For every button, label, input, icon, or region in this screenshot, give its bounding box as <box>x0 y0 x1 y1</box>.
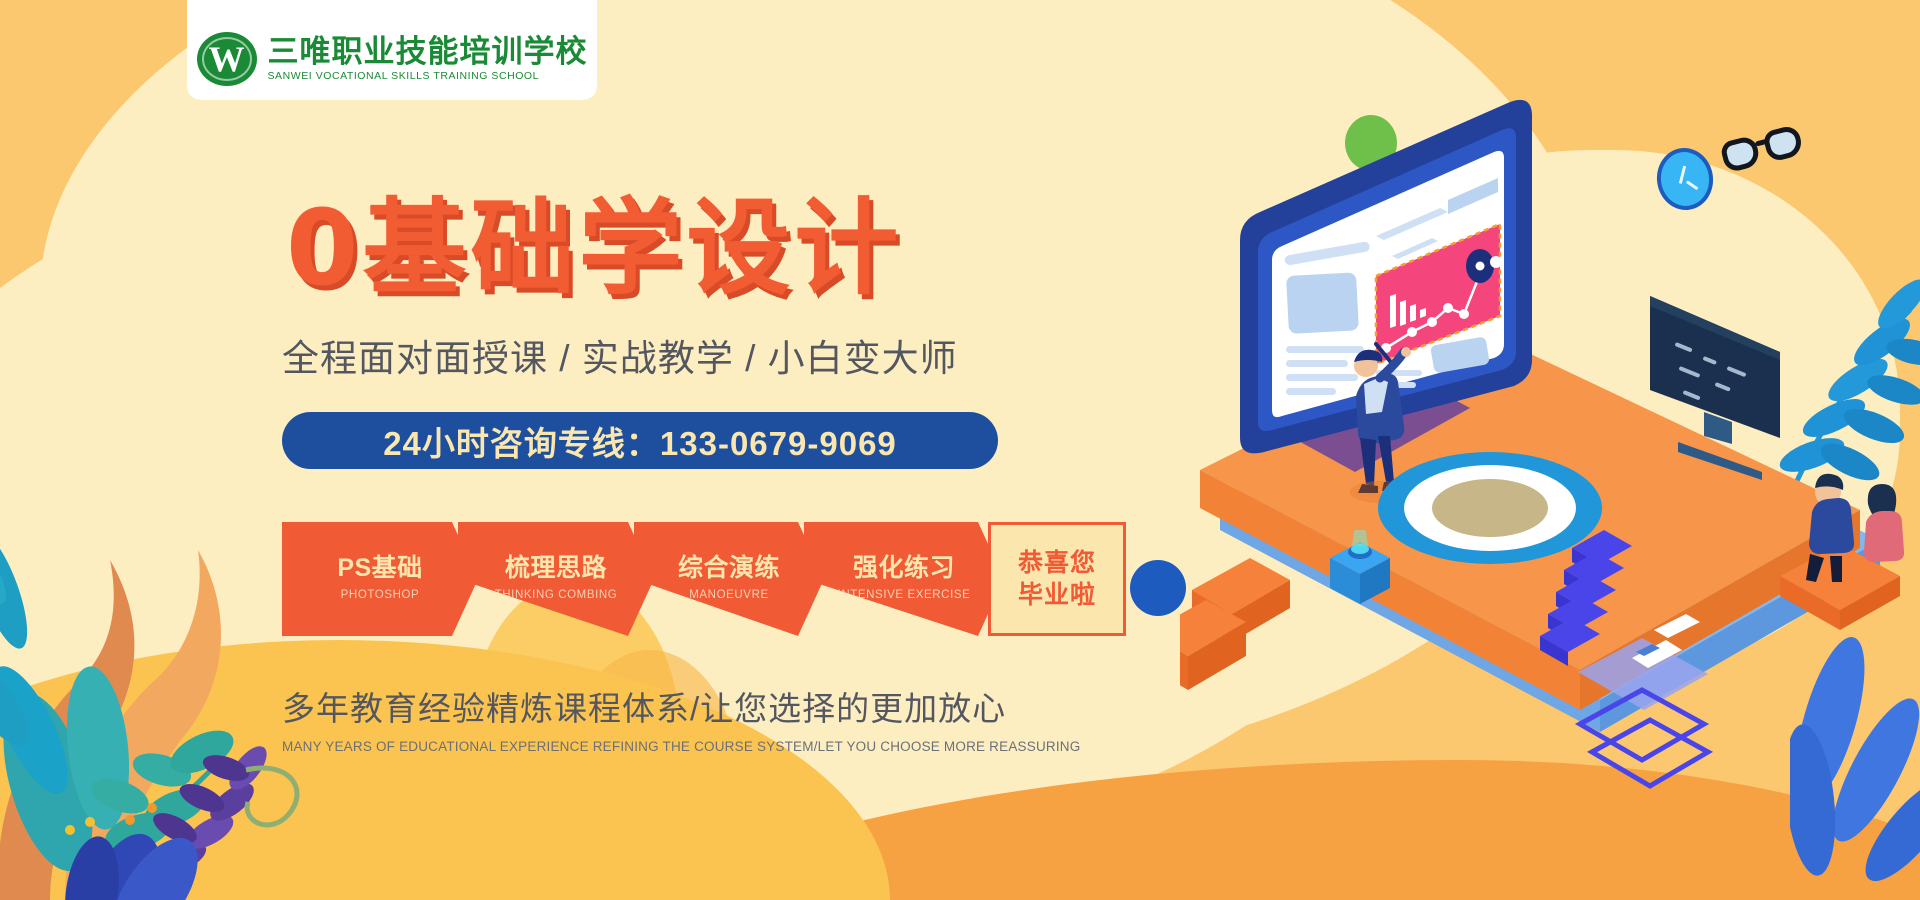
step-label-en: MANOEUVRE <box>689 590 769 602</box>
step-label-cn: 强化练习 <box>853 556 955 581</box>
step-label-cn: 梳理思路 <box>505 556 607 581</box>
course-steps: PS基础 PHOTOSHOP 梳理思路 THINKING COMBING 综合演… <box>282 522 1164 636</box>
orange-step-blocks <box>1180 558 1290 690</box>
graduation-line-1: 恭喜您 <box>1018 551 1096 576</box>
step-label-cn: PS基础 <box>337 556 422 581</box>
step-item-2[interactable]: 梳理思路 THINKING COMBING <box>458 522 654 636</box>
circular-rug <box>1378 452 1602 564</box>
tagline-cn: 多年教育经验精炼课程体系/让您选择的更加放心 <box>282 692 1006 725</box>
step-item-graduation[interactable]: 恭喜您 毕业啦 <box>988 522 1126 636</box>
step-item-1[interactable]: PS基础 PHOTOSHOP <box>282 522 478 636</box>
hero-headline: 0基础学设计 <box>286 196 902 300</box>
isometric-illustration <box>1180 60 1920 860</box>
brand-name-cn: 三唯职业技能培训学校 <box>268 36 588 69</box>
brand-name-en: SANWEI VOCATIONAL SKILLS TRAINING SCHOOL <box>268 71 588 82</box>
step-label-en: PHOTOSHOP <box>341 590 420 602</box>
logo-letter: W <box>209 41 245 77</box>
step-item-3[interactable]: 综合演练 MANOEUVRE <box>634 522 824 636</box>
step-label-en: THINKING COMBING <box>495 590 618 602</box>
graduation-line-2: 毕业啦 <box>1018 583 1096 608</box>
step-label-cn: 综合演练 <box>678 556 780 581</box>
hotline-text: 24小时咨询专线：133-0679-9069 <box>383 417 897 465</box>
promo-banner: W 三唯职业技能培训学校 SANWEI VOCATIONAL SKILLS TR… <box>0 0 1920 900</box>
step-item-4[interactable]: 强化练习 INTENSIVE EXERCISE <box>804 522 1004 636</box>
step-label-en: INTENSIVE EXERCISE <box>838 590 971 602</box>
foliage-left-upper-decoration <box>0 470 110 730</box>
hero-subline: 全程面对面授课 / 实战教学 / 小白变大师 <box>282 340 958 377</box>
tagline-en: MANY YEARS OF EDUCATIONAL EXPERIENCE REF… <box>282 740 1080 754</box>
hotline-pill[interactable]: 24小时咨询专线：133-0679-9069 <box>282 412 998 469</box>
circle-w-monogram-icon: W <box>197 32 257 86</box>
brand-logo-card[interactable]: W 三唯职业技能培训学校 SANWEI VOCATIONAL SKILLS TR… <box>187 0 597 100</box>
